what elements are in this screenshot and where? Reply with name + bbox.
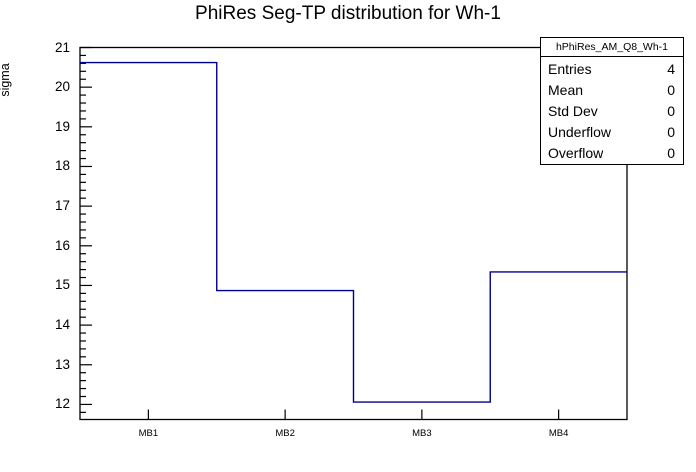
stats-row: Std Dev0 (541, 100, 683, 121)
stats-row: Overflow0 (541, 142, 683, 163)
y-tick-label: 14 (0, 318, 79, 332)
stats-value: 0 (667, 124, 675, 140)
root-canvas: PhiRes Seg-TP distribution for Wh-1 sigm… (0, 0, 696, 472)
stats-key: Underflow (548, 124, 611, 140)
y-tick-label: 19 (0, 120, 79, 134)
y-tick-label: 21 (0, 41, 79, 55)
axis-ticks (80, 48, 559, 420)
y-tick-label: 18 (0, 159, 79, 173)
x-tick-label-mb2: MB2 (255, 429, 315, 439)
stats-key: Std Dev (548, 103, 598, 119)
stats-box-title: hPhiRes_AM_Q8_Wh-1 (541, 38, 683, 57)
y-tick-label: 17 (0, 199, 79, 213)
stats-key: Entries (548, 61, 592, 77)
stats-row: Underflow0 (541, 121, 683, 142)
x-tick-label-mb4: MB4 (529, 429, 589, 439)
stats-value: 0 (667, 145, 675, 161)
stats-key: Overflow (548, 145, 603, 161)
x-tick-label-mb1: MB1 (118, 429, 178, 439)
stats-row: Mean0 (541, 79, 683, 100)
stats-row: Entries4 (541, 58, 683, 79)
y-tick-label: 12 (0, 397, 79, 411)
stats-box[interactable]: hPhiRes_AM_Q8_Wh-1 Entries4Mean0Std Dev0… (540, 37, 684, 165)
stats-value: 0 (667, 103, 675, 119)
stats-value: 4 (667, 61, 675, 77)
x-tick-label-mb3: MB3 (392, 429, 452, 439)
y-tick-label: 13 (0, 358, 79, 372)
stats-rows: Entries4Mean0Std Dev0Underflow0Overflow0 (541, 57, 683, 164)
stats-key: Mean (548, 82, 583, 98)
y-tick-label: 16 (0, 239, 79, 253)
y-tick-label: 15 (0, 278, 79, 292)
stats-value: 0 (667, 82, 675, 98)
y-tick-label: 20 (0, 80, 79, 94)
